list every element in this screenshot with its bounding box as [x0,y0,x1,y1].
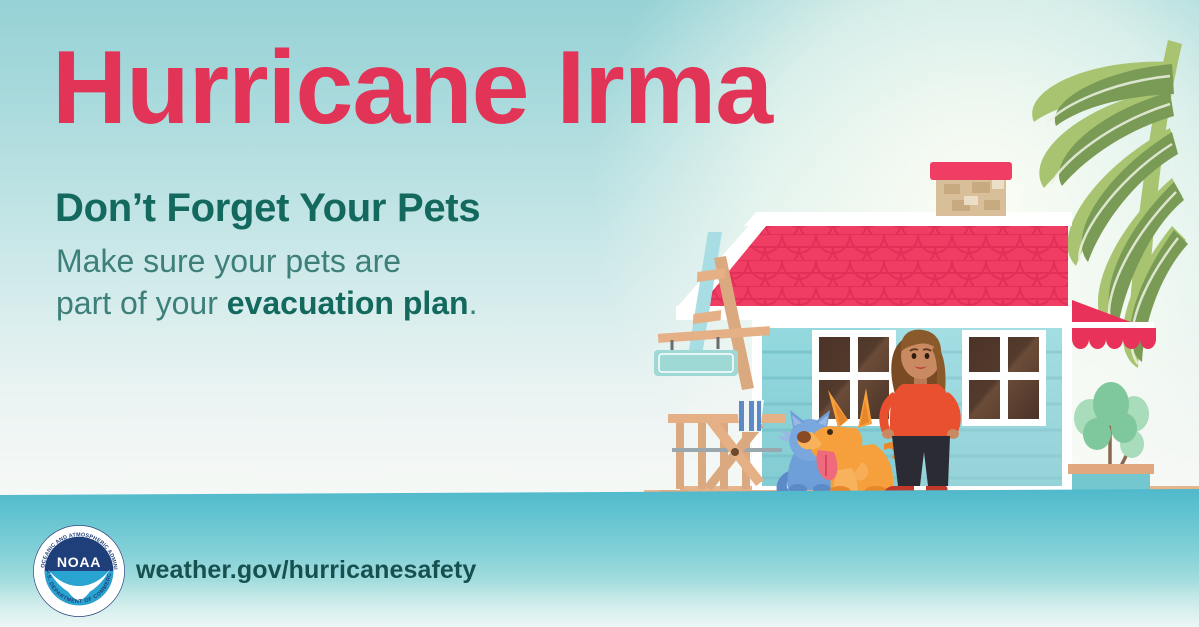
noaa-wordmark: NOAA [57,554,101,570]
cat [776,410,844,498]
dog [797,388,902,498]
body-line-2-emphasis: evacuation plan [227,285,469,321]
website-url[interactable]: weather.gov/hurricanesafety [136,556,476,585]
noaa-logo: NOAA NATIONAL OCEANIC AND ATMOSPHERIC AD… [32,524,126,618]
chimney [930,162,1012,216]
subtitle: Don’t Forget Your Pets [55,186,480,231]
deck-railing [668,414,786,489]
house-roof [676,212,1076,320]
body-line-1: Make sure your pets are [56,243,401,279]
hanging-sign [654,337,738,376]
woman [879,330,960,500]
ladder [658,232,770,390]
palm-tree [1032,40,1188,368]
window-right [962,330,1046,426]
window-left [812,330,896,426]
planter-box [1068,382,1154,496]
body-line-2-suffix: . [469,285,478,321]
deck-chair [704,400,764,490]
body-copy: Make sure your pets are part of your eva… [56,240,477,324]
body-line-2-prefix: part of your [56,285,227,321]
water-shine [0,581,1199,627]
poster-canvas: Hurricane Irma Don’t Forget Your Pets Ma… [0,0,1199,627]
page-title: Hurricane Irma [52,34,772,143]
awning [1072,300,1156,349]
house-body [752,318,1072,490]
